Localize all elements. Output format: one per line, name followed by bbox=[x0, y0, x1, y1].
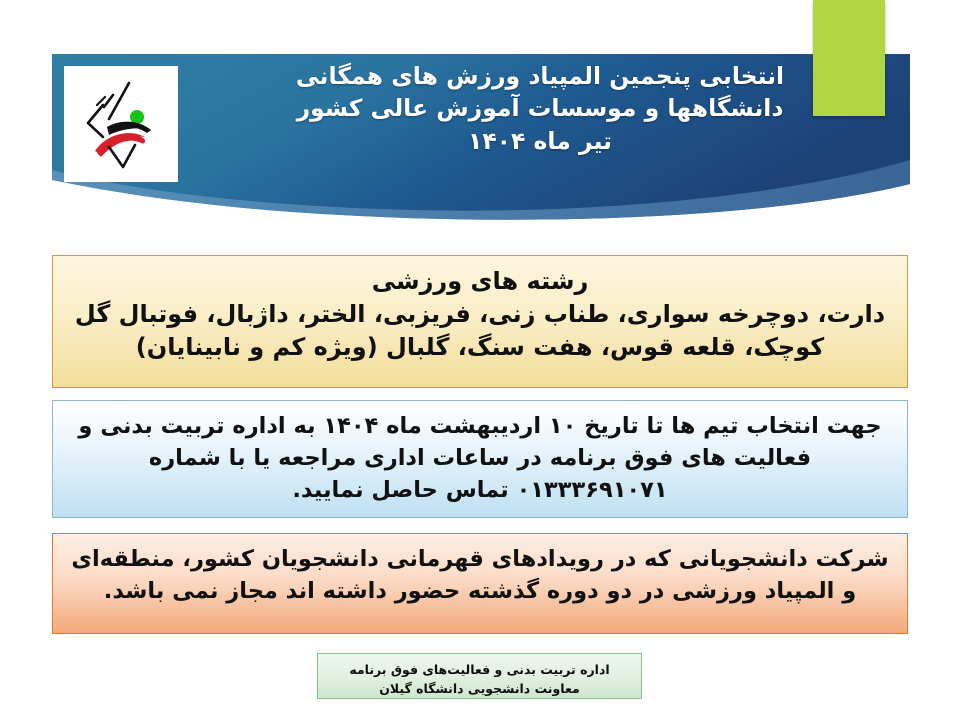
title-line-1: انتخابی پنجمین المپیاد ورزش های همگانی bbox=[190, 60, 890, 92]
issuing-office-footer: اداره تربیت بدنی و فعالیت‌های فوق برنامه… bbox=[317, 653, 642, 699]
sports-heading: رشته های ورزشی bbox=[53, 265, 907, 298]
restriction-line-2: و المپیاد ورزشی در دو دوره گذشته حضور دا… bbox=[53, 576, 907, 608]
page-title: انتخابی پنجمین المپیاد ورزش های همگانی د… bbox=[190, 60, 890, 157]
title-line-2: دانشگاهها و موسسات آموزش عالی کشور bbox=[190, 92, 890, 124]
organization-logo bbox=[64, 66, 178, 182]
footer-line-2: معاونت دانشجویی دانشگاه گیلان bbox=[318, 679, 641, 698]
sports-figure-icon bbox=[73, 75, 169, 173]
deadline-line-2: فعالیت های فوق برنامه در ساعات اداری مرا… bbox=[53, 443, 907, 475]
header-banner: انتخابی پنجمین المپیاد ورزش های همگانی د… bbox=[0, 0, 960, 240]
sports-line-1: دارت، دوچرخه سواری، طناب زنی، فریزبی، ال… bbox=[53, 298, 907, 331]
registration-deadline-box: جهت انتخاب تیم ها تا تاریخ ۱۰ اردیبهشت م… bbox=[52, 400, 908, 518]
title-line-3: تیر ماه ۱۴۰۴ bbox=[190, 125, 890, 157]
sports-disciplines-box: رشته های ورزشی دارت، دوچرخه سواری، طناب … bbox=[52, 255, 908, 388]
restriction-line-1: شرکت دانشجویانی که در رویدادهای قهرمانی … bbox=[53, 544, 907, 576]
deadline-line-3-phone: ۰۱۳۳۳۶۹۱۰۷۱ تماس حاصل نمایید. bbox=[53, 475, 907, 507]
sports-line-2: کوچک، قلعه قوس، هفت سنگ، گلبال (ویژه کم … bbox=[53, 331, 907, 364]
footer-line-1: اداره تربیت بدنی و فعالیت‌های فوق برنامه bbox=[318, 660, 641, 679]
deadline-line-1: جهت انتخاب تیم ها تا تاریخ ۱۰ اردیبهشت م… bbox=[53, 411, 907, 443]
poster-canvas: انتخابی پنجمین المپیاد ورزش های همگانی د… bbox=[0, 0, 960, 720]
participation-restriction-box: شرکت دانشجویانی که در رویدادهای قهرمانی … bbox=[52, 533, 908, 634]
